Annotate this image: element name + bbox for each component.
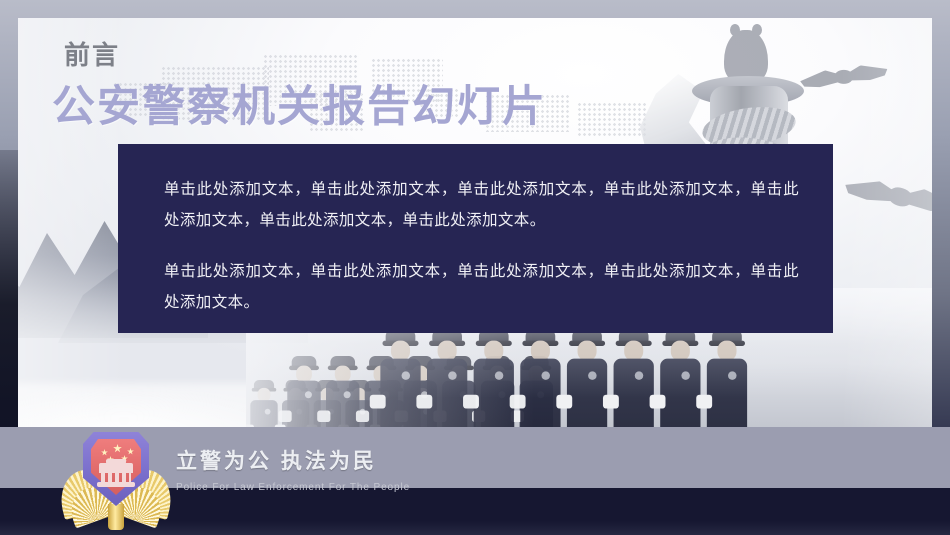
body-paragraph: 单击此处添加文本，单击此处添加文本，单击此处添加文本，单击此处添加文本，单击此处… xyxy=(164,256,799,318)
content-text-box[interactable]: 单击此处添加文本，单击此处添加文本，单击此处添加文本，单击此处添加文本，单击此处… xyxy=(118,144,833,333)
body-paragraph: 单击此处添加文本，单击此处添加文本，单击此处添加文本，单击此处添加文本，单击此处… xyxy=(164,174,799,236)
footer-slogan-en: Police For Law Enforcement For The Peopl… xyxy=(176,482,410,493)
page-title: 公安警察机关报告幻灯片 xyxy=(52,84,547,131)
presentation-slide: 前言 公安警察机关报告幻灯片 单击此处添加文本，单击此处添加文本，单击此处添加文… xyxy=(0,0,950,535)
footer-slogan-cn: 立警为公 执法为民 xyxy=(176,445,377,475)
police-emblem-icon xyxy=(57,430,175,530)
section-kicker: 前言 xyxy=(64,42,120,68)
